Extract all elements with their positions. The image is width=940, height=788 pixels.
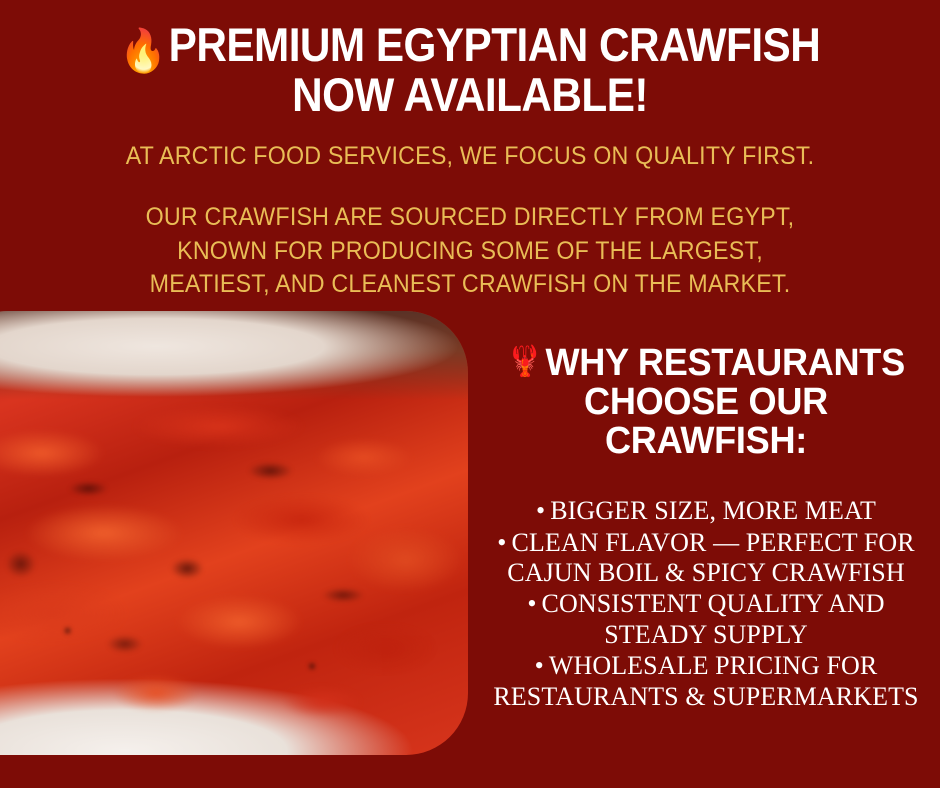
benefits-heading-text: WHY RESTAURANTS CHOOSE OUR CRAWFISH: [545, 342, 904, 462]
list-item: •BIGGER SIZE, MORE MEAT [472, 496, 940, 526]
subcopy-block: AT ARCTIC FOOD SERVICES, WE FOCUS ON QUA… [33, 140, 907, 301]
paragraph-spacer [33, 173, 907, 201]
crawfish-photo [0, 311, 468, 755]
bullet-icon: • [536, 496, 545, 525]
benefits-list: •BIGGER SIZE, MORE MEAT •CLEAN FLAVOR — … [472, 496, 940, 712]
bullet-icon: • [497, 528, 506, 557]
list-item: •CONSISTENT QUALITY AND STEADY SUPPLY [472, 589, 940, 650]
bullet-icon: • [535, 651, 544, 680]
benefits-panel: 🦞WHY RESTAURANTS CHOOSE OUR CRAWFISH: •B… [472, 344, 940, 713]
list-item-label: CLEAN FLAVOR — PERFECT FOR CAJUN BOIL & … [507, 528, 914, 587]
crawfish-photo-image [0, 311, 468, 755]
headline-text: PREMIUM EGYPTIAN CRAWFISH NOW AVAILABLE! [169, 18, 821, 121]
page-title: 🔥PREMIUM EGYPTIAN CRAWFISH NOW AVAILABLE… [47, 22, 893, 117]
list-item: •WHOLESALE PRICING FOR RESTAURANTS & SUP… [472, 651, 940, 712]
poster-header: 🔥PREMIUM EGYPTIAN CRAWFISH NOW AVAILABLE… [0, 0, 940, 117]
promo-poster: 🔥PREMIUM EGYPTIAN CRAWFISH NOW AVAILABLE… [0, 0, 940, 788]
list-item-label: WHOLESALE PRICING FOR RESTAURANTS & SUPE… [493, 651, 918, 710]
list-item-label: CONSISTENT QUALITY AND STEADY SUPPLY [542, 589, 885, 648]
benefits-heading: 🦞WHY RESTAURANTS CHOOSE OUR CRAWFISH: [484, 344, 929, 460]
list-item-label: BIGGER SIZE, MORE MEAT [550, 496, 876, 525]
bullet-icon: • [527, 589, 536, 618]
fire-icon: 🔥 [120, 27, 167, 74]
lobster-icon: 🦞 [507, 345, 542, 378]
list-item: •CLEAN FLAVOR — PERFECT FOR CAJUN BOIL &… [472, 528, 940, 589]
subcopy-line-2: OUR CRAWFISH ARE SOURCED DIRECTLY FROM E… [33, 201, 907, 301]
subcopy-line-1: AT ARCTIC FOOD SERVICES, WE FOCUS ON QUA… [33, 140, 907, 173]
